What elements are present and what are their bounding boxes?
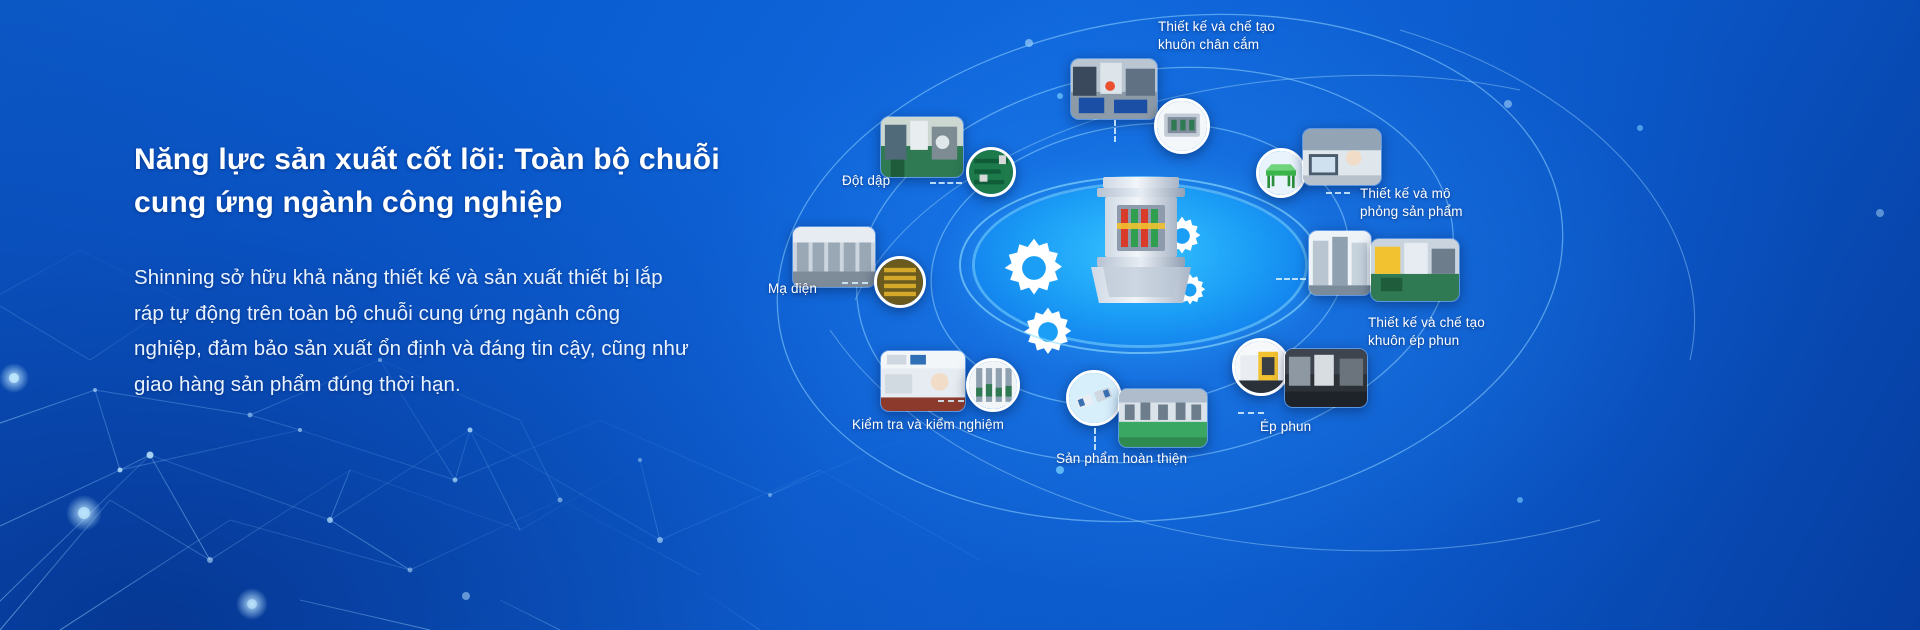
inspection-photo[interactable]: [880, 350, 966, 412]
product-sim-model-photo[interactable]: [1256, 148, 1306, 198]
inspection-detail-photo[interactable]: [966, 358, 1020, 412]
gear-icon-left: [999, 233, 1069, 303]
electroplating-photo[interactable]: [792, 226, 876, 288]
injection-mold-photo-b[interactable]: [1370, 238, 1460, 302]
finished-product-photo[interactable]: [1066, 370, 1122, 426]
stamping-label: Đột dập: [842, 172, 962, 190]
injection-machine-photo[interactable]: [1232, 338, 1290, 396]
connector-mold-photo[interactable]: [1070, 58, 1158, 120]
connector-mold-detail-photo[interactable]: [1154, 98, 1210, 154]
inspection-label: Kiểm tra và kiểm nghiệm: [852, 416, 1052, 434]
injection-mold-photo-a[interactable]: [1308, 230, 1372, 296]
finished-product-label: Sản phẩm hoàn thiện: [1056, 450, 1236, 468]
finished-product-connector: [1094, 428, 1096, 450]
product-sim-photo[interactable]: [1302, 128, 1382, 186]
injection-mold-label: Thiết kế và chế tạo khuôn ép phun: [1368, 314, 1548, 350]
page-title: Năng lực sản xuất cốt lõi: Toàn bộ chuỗi…: [134, 138, 734, 224]
injection-floor-photo[interactable]: [1284, 348, 1368, 408]
stamping-photo[interactable]: [880, 116, 964, 178]
connector-mold-connector: [1114, 120, 1116, 142]
assembly-line-photo[interactable]: [1118, 388, 1208, 448]
injection-label: Ép phun: [1260, 418, 1380, 436]
injection-mold-connector: [1276, 278, 1306, 280]
injection-connector: [1238, 412, 1264, 414]
hero-description: Shinning sở hữu khả năng thiết kế và sản…: [134, 260, 734, 402]
stamping-detail-photo[interactable]: [966, 147, 1016, 197]
hero-copy: Năng lực sản xuất cốt lõi: Toàn bộ chuỗi…: [134, 138, 734, 402]
orbit-rings: [760, 0, 1920, 630]
gear-icon-bottom: [1019, 303, 1077, 361]
electroplating-detail-photo[interactable]: [874, 256, 926, 308]
capability-orbit-diagram: Đột dập: [760, 0, 1920, 630]
connector-mold-label: Thiết kế và chế tạo khuôn chân cắm: [1158, 18, 1338, 54]
electroplating-label: Mạ điện: [768, 280, 868, 298]
hero-banner: Năng lực sản xuất cốt lõi: Toàn bộ chuỗi…: [0, 0, 1920, 630]
injection-mold-tool-illustration: [1087, 175, 1195, 310]
product-sim-label: Thiết kế và mô phỏng sản phẩm: [1360, 185, 1530, 221]
inspection-connector: [938, 400, 964, 402]
product-sim-connector: [1326, 192, 1350, 194]
